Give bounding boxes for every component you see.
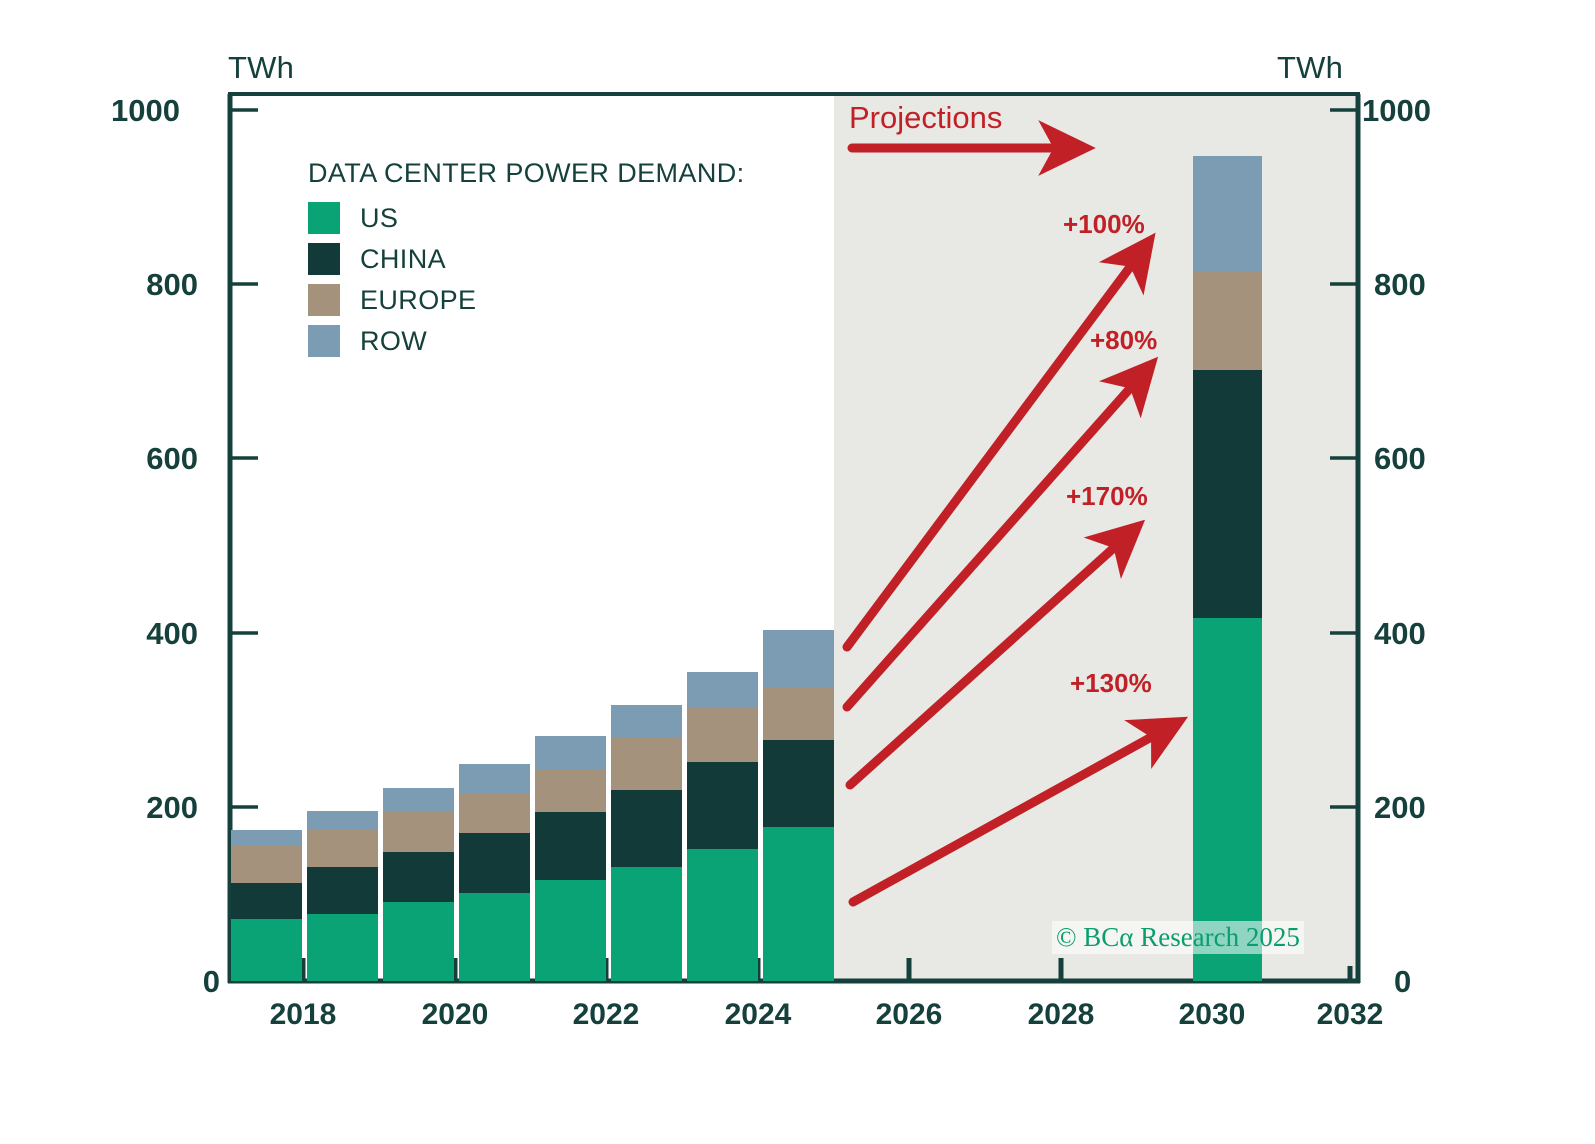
y-tick-right-200: 200 [1374,790,1464,826]
bar-segment-china [1193,370,1262,618]
bar-segment-china [687,762,758,849]
bar-segment-china [763,740,834,827]
bar-segment-europe [1193,272,1262,370]
bar-segment-row [763,630,834,687]
projections-label: Projections [849,100,1002,136]
bar-2018 [307,811,378,981]
chart-canvas [0,0,1595,1144]
copyright-credit: © BCα Research 2025 [1052,921,1304,954]
legend-swatch-china [308,243,340,275]
growth-label-80: +80% [1090,325,1157,356]
y-tick-left-400: 400 [118,616,198,652]
bar-segment-china [307,867,378,914]
legend-label-row: ROW [360,326,427,357]
bar-segment-us [307,914,378,981]
y-tick-left-0: 0 [140,964,220,1000]
bar-2019 [383,788,454,981]
legend-swatch-row [308,325,340,357]
bar-segment-row [307,811,378,829]
bar-segment-us [383,902,454,981]
bar-segment-europe [763,687,834,740]
y-tick-right-400: 400 [1374,616,1464,652]
bar-segment-row [231,830,302,846]
y-tick-left-800: 800 [118,267,198,303]
bar-segment-us [231,919,302,981]
bar-segment-us [611,867,682,981]
x-tick-2032: 2032 [1290,998,1410,1032]
growth-label-170: +170% [1066,481,1148,512]
bar-2023 [687,672,758,981]
bar-segment-row [383,788,454,812]
x-tick-2028: 2028 [1001,998,1121,1032]
bar-segment-row [687,672,758,707]
bar-2021 [535,736,606,981]
bar-segment-europe [611,738,682,790]
legend-item-us[interactable]: US [308,202,398,234]
bar-segment-row [535,736,606,769]
bar-2030 [1193,156,1262,981]
bar-segment-china [231,883,302,919]
x-tick-2022: 2022 [546,998,666,1032]
y-tick-right-1000: 1000 [1362,93,1452,129]
y-tick-right-600: 600 [1374,441,1464,477]
growth-label-130: +130% [1070,668,1152,699]
legend-label-china: CHINA [360,244,446,275]
bar-segment-europe [383,812,454,852]
bar-2020 [459,764,530,981]
bar-segment-us [459,893,530,981]
x-tick-2018: 2018 [243,998,363,1032]
growth-label-100: +100% [1063,209,1145,240]
legend-label-europe: EUROPE [360,285,476,316]
bar-segment-china [611,790,682,867]
bar-segment-europe [535,769,606,812]
legend-title: DATA CENTER POWER DEMAND: [308,158,745,189]
bar-segment-row [459,764,530,793]
bar-segment-europe [459,793,530,833]
bar-2022 [611,705,682,981]
y-tick-left-200: 200 [118,790,198,826]
brand-alpha: α [1119,922,1133,952]
bar-segment-europe [231,846,302,883]
bar-segment-europe [307,829,378,867]
copyright-symbol: © [1056,922,1077,952]
bar-2024 [763,630,834,981]
y-tick-left-1000: 1000 [100,93,180,129]
legend-item-row[interactable]: ROW [308,325,427,357]
legend-label-us: US [360,203,398,234]
bar-2017 [231,830,302,981]
bar-segment-row [611,705,682,738]
y-tick-right-800: 800 [1374,267,1464,303]
credit-rest: Research 2025 [1140,922,1300,952]
x-tick-2026: 2026 [849,998,969,1032]
legend-swatch-europe [308,284,340,316]
bar-segment-europe [687,707,758,762]
x-tick-2030: 2030 [1152,998,1272,1032]
bar-segment-row [1193,156,1262,272]
brand-name: BC [1083,922,1119,952]
y-tick-left-600: 600 [118,441,198,477]
x-tick-2020: 2020 [395,998,515,1032]
legend-item-china[interactable]: CHINA [308,243,446,275]
bar-segment-us [535,880,606,981]
legend-swatch-us [308,202,340,234]
y-tick-right-0: 0 [1394,964,1484,1000]
bar-segment-china [459,833,530,893]
bar-segment-us [687,849,758,981]
x-tick-2024: 2024 [698,998,818,1032]
bar-segment-china [383,852,454,902]
data-center-power-demand-chart: TWh TWh [0,0,1595,1144]
bar-segment-china [535,812,606,880]
bar-segment-us [763,827,834,981]
legend-item-europe[interactable]: EUROPE [308,284,476,316]
